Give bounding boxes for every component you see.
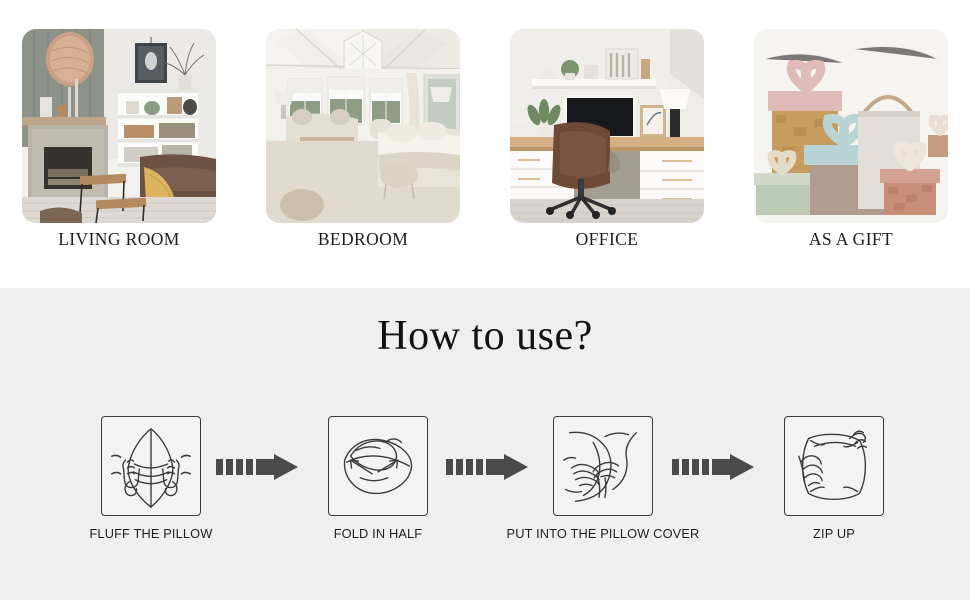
zip-pillow-icon — [784, 416, 884, 516]
scene-card-living-room[interactable]: LIVING ROOM — [22, 29, 216, 223]
insert-pillow-icon — [553, 416, 653, 516]
fold-pillow-icon — [328, 416, 428, 516]
office-photo — [510, 29, 704, 223]
step-arrow-1 — [216, 454, 298, 480]
step-zip-up[interactable]: ZIP UP — [784, 416, 884, 516]
gift-boxes-photo — [754, 29, 948, 223]
scene-label: AS A GIFT — [724, 229, 970, 250]
step-fold-in-half[interactable]: FOLD IN HALF — [328, 416, 428, 516]
step-arrow-2 — [446, 454, 528, 480]
product-detail-page: LIVING ROOM — [0, 0, 970, 600]
usage-scenes-section: LIVING ROOM — [0, 0, 970, 288]
step-fluff-the-pillow[interactable]: FLUFF THE PILLOW — [101, 416, 201, 516]
scene-card-office[interactable]: OFFICE — [510, 29, 704, 223]
how-to-use-section: How to use? — [0, 288, 970, 600]
step-label: FOLD IN HALF — [248, 526, 508, 541]
bedroom-photo — [266, 29, 460, 223]
step-label: ZIP UP — [704, 526, 964, 541]
how-to-use-steps: FLUFF THE PILLOW — [0, 416, 970, 566]
step-arrow-3 — [672, 454, 754, 480]
scene-label: BEDROOM — [236, 229, 490, 250]
step-put-into-the-pillow-cover[interactable]: PUT INTO THE PILLOW COVER — [553, 416, 653, 516]
scene-card-bedroom[interactable]: BEDROOM — [266, 29, 460, 223]
step-label: PUT INTO THE PILLOW COVER — [473, 526, 733, 541]
scene-label: OFFICE — [480, 229, 734, 250]
fluff-pillow-icon — [101, 416, 201, 516]
scene-label: LIVING ROOM — [0, 229, 246, 250]
scene-card-as-a-gift[interactable]: AS A GIFT — [754, 29, 948, 223]
step-label: FLUFF THE PILLOW — [21, 526, 281, 541]
living-room-photo — [22, 29, 216, 223]
how-to-use-title: How to use? — [0, 312, 970, 360]
